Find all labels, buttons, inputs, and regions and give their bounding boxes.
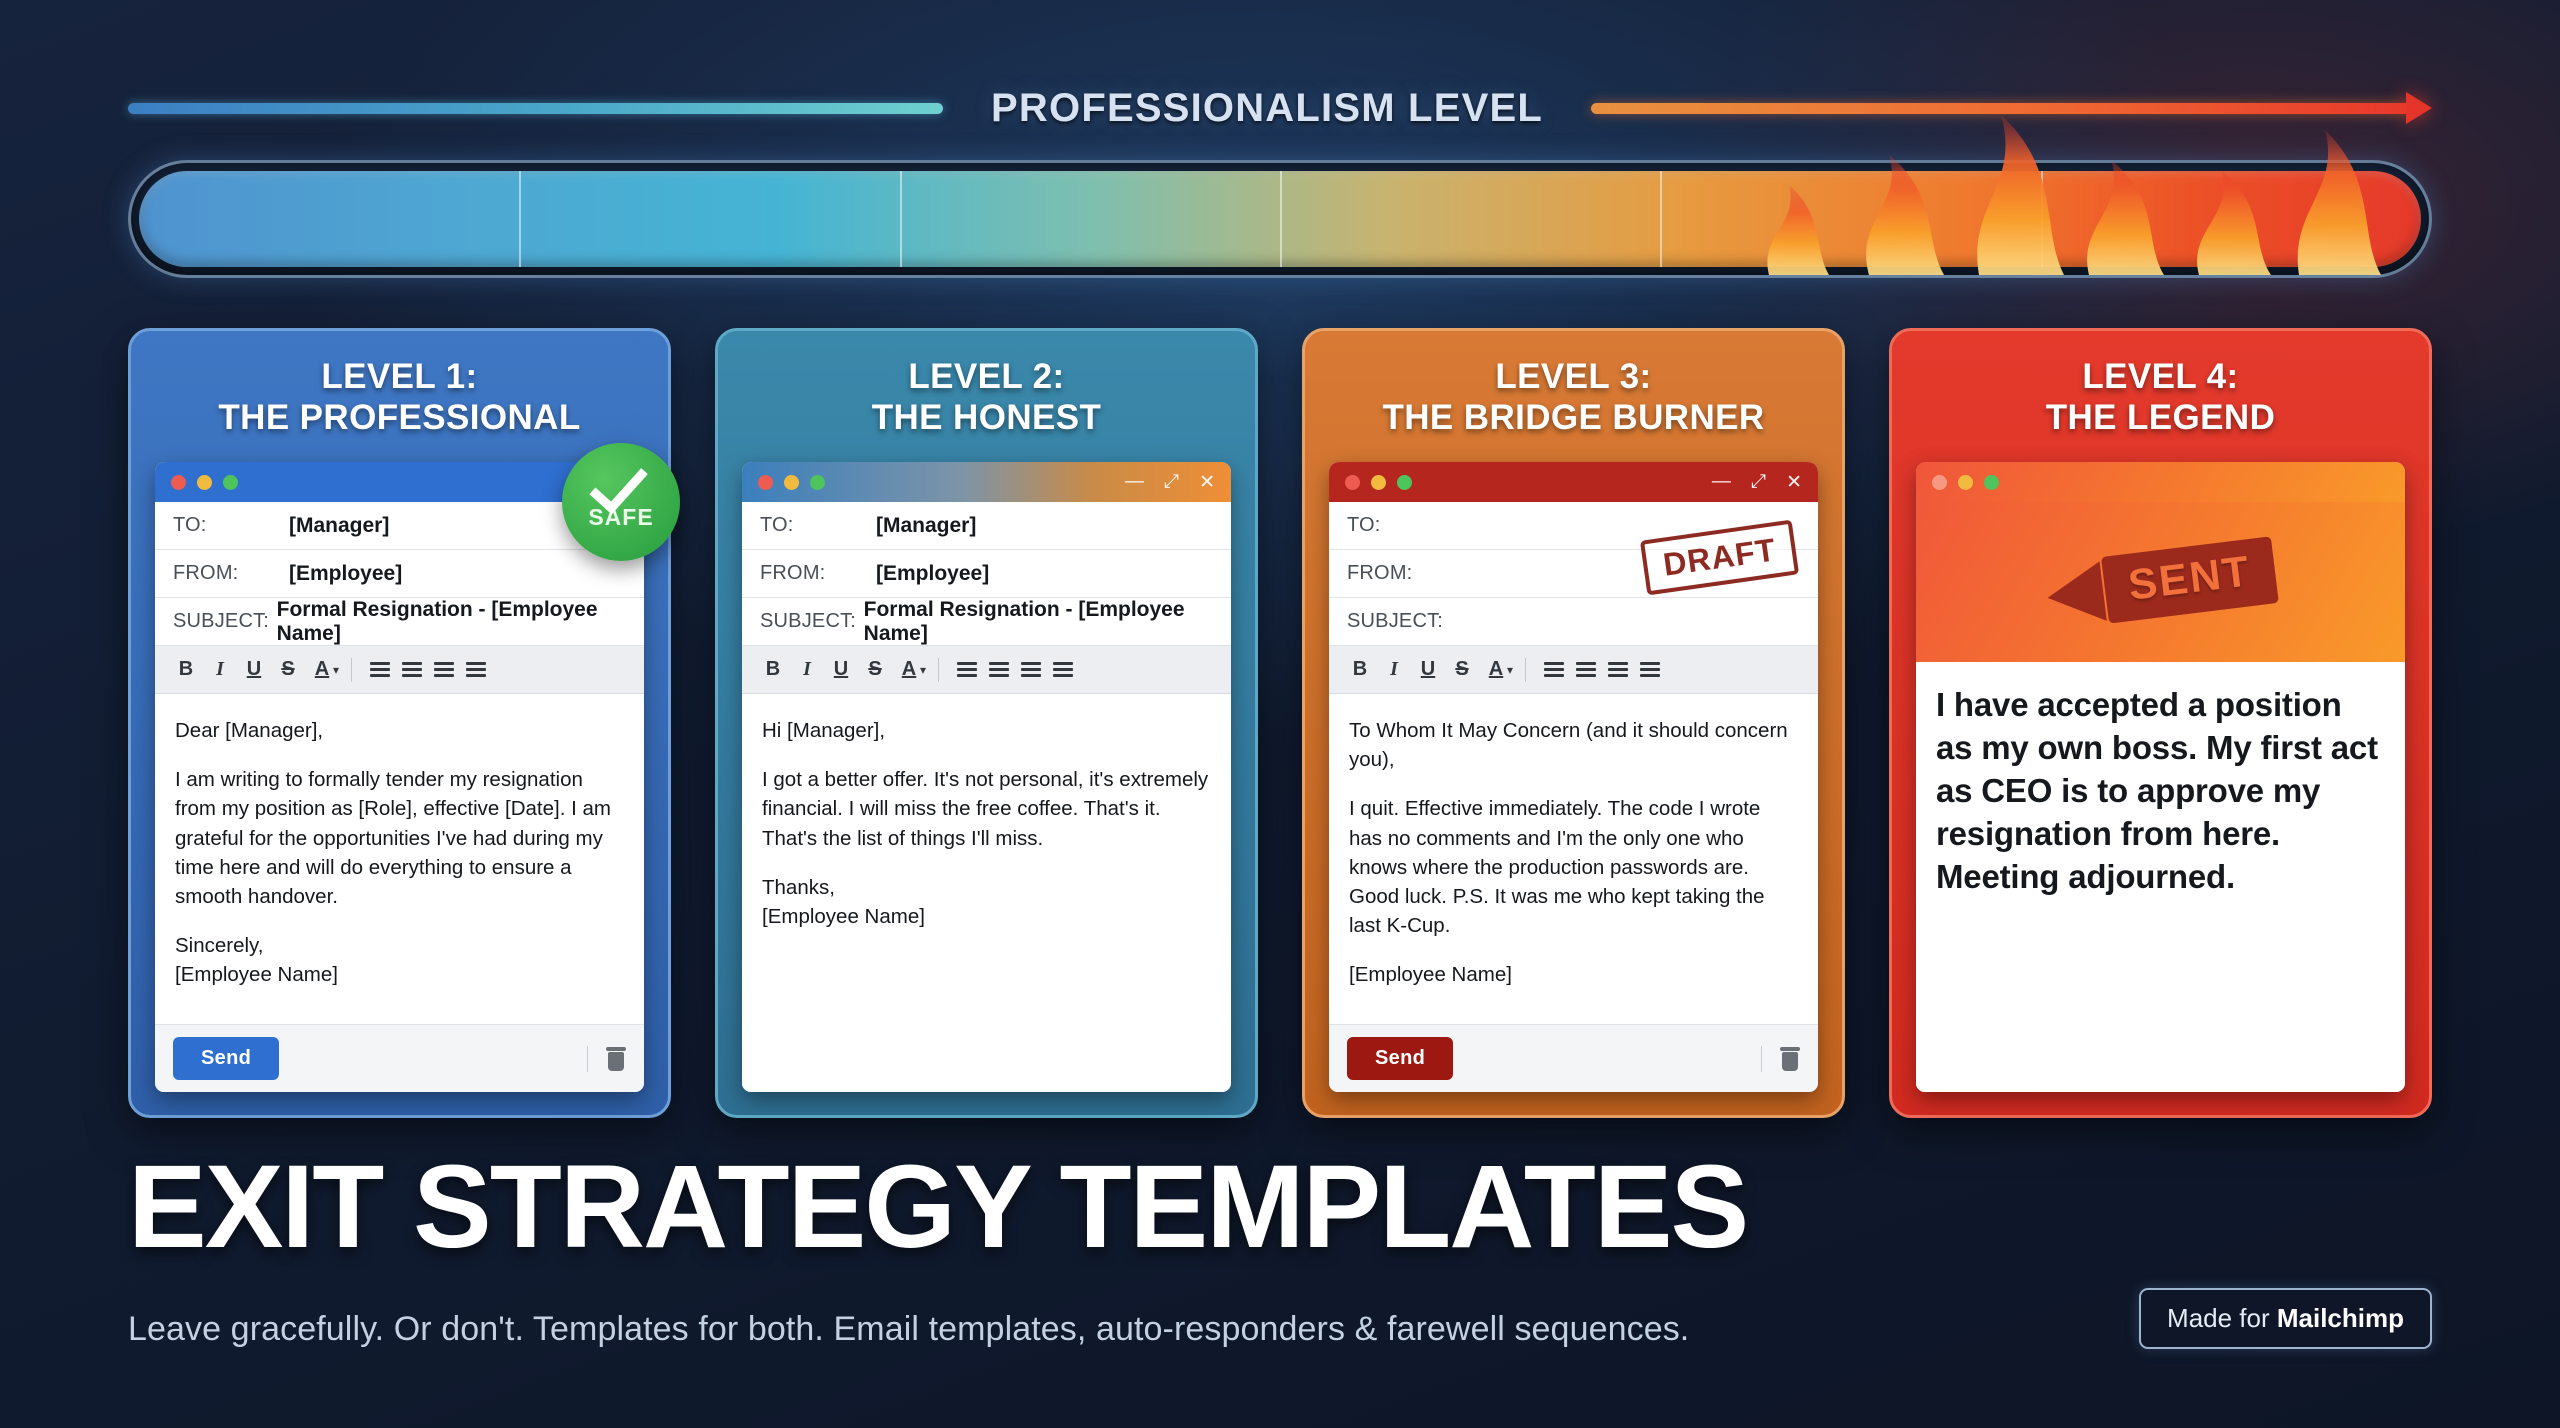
maximize-dot-icon[interactable]	[810, 475, 825, 490]
body-paragraph: I am writing to formally tender my resig…	[175, 765, 624, 911]
title-bar-4: SENT	[1916, 462, 2405, 662]
field-label-subject: SUBJECT:	[760, 610, 864, 633]
field-value-from: [Employee]	[876, 562, 989, 586]
window-dots	[1345, 475, 1412, 490]
meter-line-left-icon	[128, 103, 943, 114]
body-paragraph: Dear [Manager],	[175, 716, 624, 745]
title-bar-2: — ⤢ ✕	[742, 462, 1231, 502]
send-button-1[interactable]: Send	[173, 1037, 279, 1080]
mail-window-4: SENT I have accepted a position as my ow…	[1916, 462, 2405, 1092]
meter-line-right-group	[1591, 92, 2432, 124]
bulleted-list-icon[interactable]	[364, 662, 396, 677]
format-toolbar-3: B I U S A ▾	[1329, 646, 1818, 694]
underline-icon[interactable]: U	[237, 658, 271, 681]
close-icon[interactable]: ✕	[1786, 471, 1802, 494]
made-for-prefix: Made for	[2167, 1303, 2277, 1333]
italic-icon[interactable]: I	[790, 658, 824, 681]
italic-icon[interactable]: I	[203, 658, 237, 681]
footer-divider	[587, 1046, 588, 1072]
mail-footer-3: Send	[1329, 1024, 1818, 1092]
bulleted-list-icon[interactable]	[951, 662, 983, 677]
close-dot-icon[interactable]	[1345, 475, 1360, 490]
toolbar-divider	[938, 658, 939, 682]
outdent-icon[interactable]	[1602, 662, 1634, 677]
body-paragraph: I have accepted a position as my own bos…	[1936, 684, 2385, 898]
mail-window-1: TO: [Manager] FROM: [Employee] SUBJECT: …	[155, 462, 644, 1092]
close-icon[interactable]: ✕	[1199, 471, 1215, 494]
field-label-subject: SUBJECT:	[173, 610, 277, 633]
level-cards: LEVEL 1: THE PROFESSIONAL SAFE TO: [Mana…	[128, 328, 2432, 1118]
window-dots-bar-4	[1916, 462, 2405, 502]
maximize-dot-icon[interactable]	[1984, 475, 1999, 490]
trash-icon[interactable]	[606, 1047, 626, 1071]
field-subject-2[interactable]: SUBJECT: Formal Resignation - [Employee …	[742, 598, 1231, 646]
window-dots	[171, 475, 238, 490]
field-subject-1[interactable]: SUBJECT: Formal Resignation - [Employee …	[155, 598, 644, 646]
send-button-3[interactable]: Send	[1347, 1037, 1453, 1080]
bulleted-list-icon[interactable]	[1538, 662, 1570, 677]
card-level-4[interactable]: LEVEL 4: THE LEGEND SENT I have accepted…	[1889, 328, 2432, 1118]
maximize-icon[interactable]: ⤢	[1751, 471, 1766, 493]
meter-line-right-icon	[1591, 103, 2406, 114]
field-label-subject: SUBJECT:	[1347, 610, 1463, 633]
minimize-dot-icon[interactable]	[197, 475, 212, 490]
minimize-dot-icon[interactable]	[1371, 475, 1386, 490]
card-title-level-4: LEVEL 4: THE LEGEND	[1916, 357, 2405, 438]
field-label-from: FROM:	[1347, 562, 1463, 585]
toolbar-divider	[1525, 658, 1526, 682]
format-toolbar-2: B I U S A ▾	[742, 646, 1231, 694]
trash-icon[interactable]	[1780, 1047, 1800, 1071]
made-for-badge: Made for Mailchimp	[2139, 1288, 2432, 1349]
card-level-1[interactable]: LEVEL 1: THE PROFESSIONAL SAFE TO: [Mana…	[128, 328, 671, 1118]
indent-icon[interactable]	[1047, 662, 1079, 677]
underline-icon[interactable]: U	[824, 658, 858, 681]
mail-body-1[interactable]: Dear [Manager], I am writing to formally…	[155, 694, 644, 1024]
arrow-right-icon	[2406, 92, 2432, 124]
bold-icon[interactable]: B	[1343, 658, 1377, 681]
professionalism-meter: PROFESSIONALISM LEVEL	[0, 0, 2560, 300]
close-dot-icon[interactable]	[1932, 475, 1947, 490]
minimize-icon[interactable]: —	[1125, 471, 1144, 493]
maximize-icon[interactable]: ⤢	[1164, 471, 1179, 493]
numbered-list-icon[interactable]	[1570, 662, 1602, 677]
footer-actions-1	[587, 1046, 626, 1072]
field-to-2[interactable]: TO: [Manager]	[742, 502, 1231, 550]
indent-icon[interactable]	[1634, 662, 1666, 677]
body-paragraph: Thanks, [Employee Name]	[762, 873, 1211, 931]
page-footer: EXIT STRATEGY TEMPLATES Leave gracefully…	[128, 1150, 2432, 1349]
window-controls-3: — ⤢ ✕	[1712, 471, 1802, 494]
minimize-icon[interactable]: —	[1712, 471, 1731, 493]
mail-body-2[interactable]: Hi [Manager], I got a better offer. It's…	[742, 694, 1231, 1092]
close-dot-icon[interactable]	[758, 475, 773, 490]
footer-row: Leave gracefully. Or don't. Templates fo…	[128, 1288, 2432, 1349]
window-dots	[758, 475, 825, 490]
strikethrough-icon[interactable]: S	[271, 658, 305, 681]
numbered-list-icon[interactable]	[983, 662, 1015, 677]
card-title-level-2: LEVEL 2: THE HONEST	[742, 357, 1231, 438]
bold-icon[interactable]: B	[169, 658, 203, 681]
card-title-level-3: LEVEL 3: THE BRIDGE BURNER	[1329, 357, 1818, 438]
field-value-to: [Manager]	[876, 514, 976, 538]
field-label-to: TO:	[173, 514, 289, 537]
strikethrough-icon[interactable]: S	[858, 658, 892, 681]
meter-label-row: PROFESSIONALISM LEVEL	[128, 82, 2432, 134]
field-label-to: TO:	[1347, 514, 1463, 537]
window-dots	[1932, 475, 1999, 490]
minimize-dot-icon[interactable]	[784, 475, 799, 490]
meter-bar	[128, 160, 2432, 278]
body-paragraph: Sincerely, [Employee Name]	[175, 931, 624, 989]
mail-window-3: — ⤢ ✕ DRAFT TO: FROM: SUBJECT: B I	[1329, 462, 1818, 1092]
brand-name: Mailchimp	[2277, 1303, 2404, 1333]
page-title: EXIT STRATEGY TEMPLATES	[128, 1150, 2432, 1266]
underline-icon[interactable]: U	[1411, 658, 1445, 681]
mail-footer-1: Send	[155, 1024, 644, 1092]
paper-plane-icon	[2043, 561, 2106, 627]
footer-actions-3	[1761, 1046, 1800, 1072]
sent-stamp: SENT	[2043, 537, 2278, 631]
sent-stamp-label: SENT	[2100, 537, 2278, 624]
title-bar-3: — ⤢ ✕	[1329, 462, 1818, 502]
body-paragraph: To Whom It May Concern (and it should co…	[1349, 716, 1798, 774]
field-label-from: FROM:	[760, 562, 876, 585]
minimize-dot-icon[interactable]	[1958, 475, 1973, 490]
field-from-1[interactable]: FROM: [Employee]	[155, 550, 644, 598]
card-title-level-1: LEVEL 1: THE PROFESSIONAL	[155, 357, 644, 438]
field-value-subject: Formal Resignation - [Employee Name]	[277, 598, 626, 646]
window-controls-2: — ⤢ ✕	[1125, 471, 1215, 494]
body-paragraph: [Employee Name]	[1349, 960, 1798, 989]
body-paragraph: I quit. Effective immediately. The code …	[1349, 794, 1798, 940]
card-level-3[interactable]: LEVEL 3: THE BRIDGE BURNER — ⤢ ✕ DRAFT T…	[1302, 328, 1845, 1118]
format-toolbar-1: B I U S A ▾	[155, 646, 644, 694]
meter-title: PROFESSIONALISM LEVEL	[943, 86, 1591, 131]
safe-badge: SAFE	[562, 443, 680, 561]
outdent-icon[interactable]	[1015, 662, 1047, 677]
strikethrough-icon[interactable]: S	[1445, 658, 1479, 681]
page-subtitle: Leave gracefully. Or don't. Templates fo…	[128, 1310, 1689, 1349]
outdent-icon[interactable]	[428, 662, 460, 677]
maximize-dot-icon[interactable]	[1397, 475, 1412, 490]
chevron-down-icon[interactable]: ▾	[920, 663, 926, 677]
chevron-down-icon[interactable]: ▾	[333, 663, 339, 677]
mail-body-3[interactable]: To Whom It May Concern (and it should co…	[1329, 694, 1818, 1024]
field-value-subject: Formal Resignation - [Employee Name]	[864, 598, 1213, 646]
card-level-2[interactable]: LEVEL 2: THE HONEST — ⤢ ✕ TO: [Manager]	[715, 328, 1258, 1118]
body-paragraph: Hi [Manager],	[762, 716, 1211, 745]
mail-window-2: — ⤢ ✕ TO: [Manager] FROM: [Employee] SUB…	[742, 462, 1231, 1092]
maximize-dot-icon[interactable]	[223, 475, 238, 490]
indent-icon[interactable]	[460, 662, 492, 677]
toolbar-divider	[351, 658, 352, 682]
italic-icon[interactable]: I	[1377, 658, 1411, 681]
mail-body-4[interactable]: I have accepted a position as my own bos…	[1916, 662, 2405, 1092]
meter-bar-fill	[139, 171, 2421, 267]
footer-divider	[1761, 1046, 1762, 1072]
field-label-to: TO:	[760, 514, 876, 537]
numbered-list-icon[interactable]	[396, 662, 428, 677]
field-from-2[interactable]: FROM: [Employee]	[742, 550, 1231, 598]
safe-badge-label: SAFE	[588, 504, 653, 531]
bold-icon[interactable]: B	[756, 658, 790, 681]
close-dot-icon[interactable]	[171, 475, 186, 490]
body-paragraph: I got a better offer. It's not personal,…	[762, 765, 1211, 852]
field-label-from: FROM:	[173, 562, 289, 585]
field-value-to: [Manager]	[289, 514, 389, 538]
chevron-down-icon[interactable]: ▾	[1507, 663, 1513, 677]
field-subject-3[interactable]: SUBJECT:	[1329, 598, 1818, 646]
field-value-from: [Employee]	[289, 562, 402, 586]
